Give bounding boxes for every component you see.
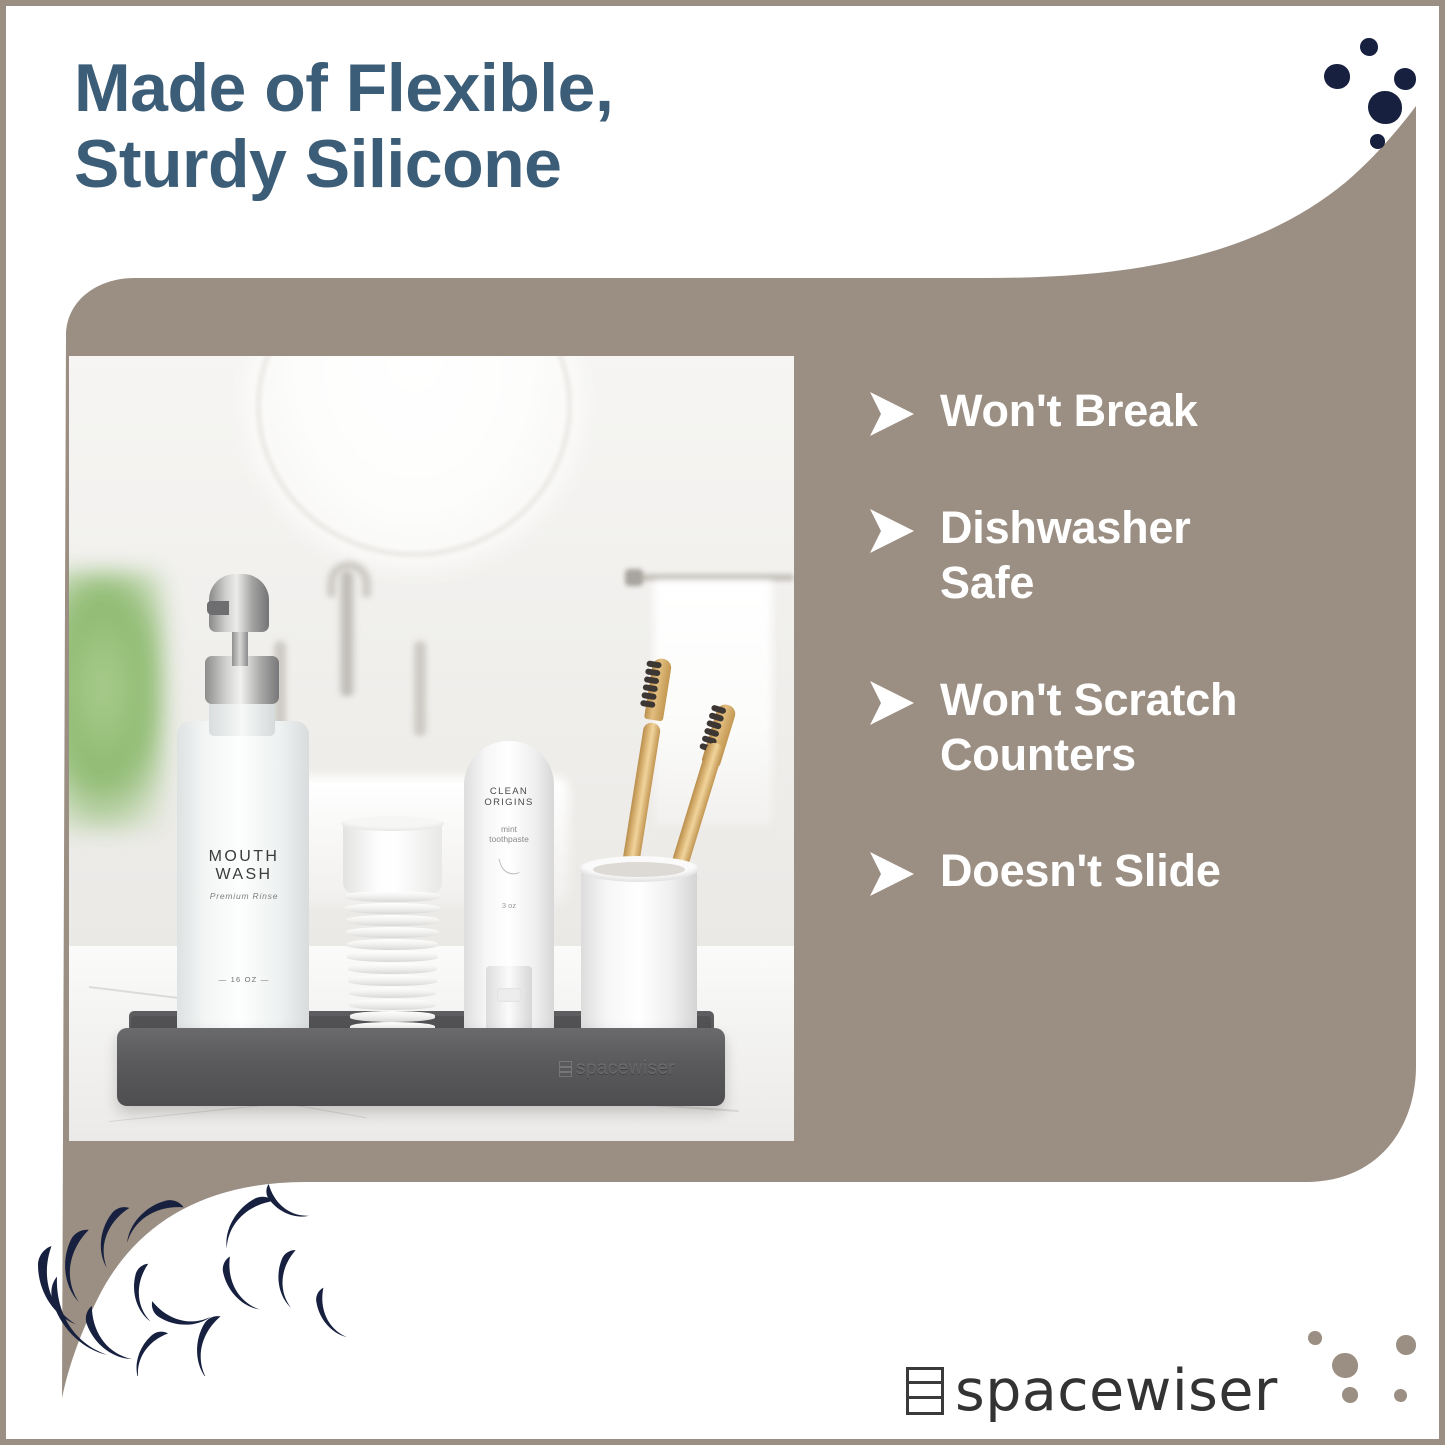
photo-pump-spout (207, 601, 229, 615)
headline-line-2: Sturdy Silicone (74, 126, 834, 202)
headline-line-1: Made of Flexible, (74, 50, 613, 126)
feature-item-doesnt-slide: Doesn't Slide (868, 844, 1388, 899)
toothpaste-brand-1: CLEAN (469, 786, 549, 797)
mouthwash-name-2: WASH (189, 866, 299, 884)
photo-faucet (339, 571, 355, 696)
photo-tray-brand-emboss: spacewiser (559, 1056, 709, 1082)
feature-label: Doesn't Slide (940, 844, 1221, 899)
infographic-canvas: Made of Flexible, Sturdy Silicone (6, 6, 1439, 1439)
mouthwash-name-1: MOUTH (189, 848, 299, 866)
brand-logo: spacewiser (906, 1358, 1278, 1424)
photo-paper-cup-stack (341, 821, 444, 1036)
feature-label: Dishwasher Safe (940, 501, 1270, 611)
brand-name: spacewiser (955, 1358, 1278, 1424)
photo-faucet-handle-right (414, 641, 426, 736)
toothpaste-volume: 3 oz (469, 901, 549, 910)
product-photo: MOUTH WASH Premium Rinse — 16 OZ — (69, 356, 794, 1141)
arrow-right-icon (868, 850, 914, 898)
tray-brand-text: spacewiser (576, 1058, 675, 1080)
mouthwash-tagline: Premium Rinse (189, 891, 299, 901)
photo-toothpaste-cap-notch (497, 988, 521, 1002)
feature-item-dishwasher-safe: Dishwasher Safe (868, 501, 1388, 611)
shelf-ladder-icon (559, 1061, 572, 1077)
shelf-ladder-icon (906, 1367, 944, 1415)
page-title: Made of Flexible, Sturdy Silicone (74, 50, 834, 202)
photo-holder-opening (593, 862, 685, 877)
feature-item-wont-scratch-counters: Won't Scratch Counters (868, 673, 1388, 783)
toothpaste-brand-2: ORIGINS (469, 797, 549, 808)
photo-towel-rail-bracket (625, 569, 643, 586)
arrow-right-icon (868, 507, 914, 555)
navy-dot-cluster-icon (1306, 26, 1436, 166)
navy-crescent-strokes-icon (26, 1181, 356, 1376)
image-border: Made of Flexible, Sturdy Silicone (0, 0, 1445, 1445)
photo-mouthwash-label: MOUTH WASH Premium Rinse — 16 OZ — (189, 826, 299, 1011)
photo-plant (69, 571, 164, 831)
feature-list: Won't Break Dishwasher Safe Won't Scratc… (868, 384, 1388, 899)
mouthwash-volume: — 16 OZ — (189, 975, 299, 984)
feature-label: Won't Scratch Counters (940, 673, 1310, 783)
toothpaste-type-1: mint (469, 824, 549, 834)
feature-label: Won't Break (940, 384, 1198, 439)
arrow-right-icon (868, 679, 914, 727)
taupe-dot-cluster-icon (1306, 1331, 1439, 1439)
toothpaste-type-2: toothpaste (469, 834, 549, 844)
photo-towel-rail (629, 574, 794, 581)
feature-item-wont-break: Won't Break (868, 384, 1388, 439)
photo-toothpaste-label: CLEAN ORIGINS mint toothpaste (469, 786, 549, 844)
photo-toothbrush-holder (581, 866, 697, 1041)
arrow-right-icon (868, 390, 914, 438)
